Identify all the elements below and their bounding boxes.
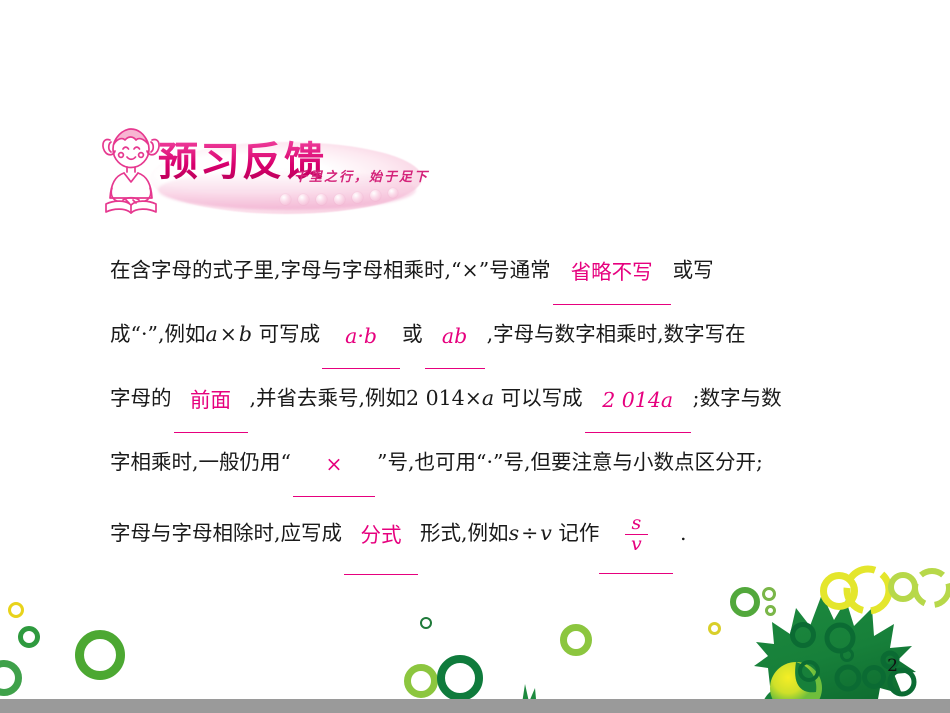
- line2-segment-1: 成“·”,例如: [110, 322, 206, 346]
- bottom-gray-bar: [0, 699, 950, 713]
- banner-subtitle: 千里之行，始于足下: [294, 166, 429, 185]
- lesson-body-text: 在含字母的式子里,字母与字母相乘时,“×”号通常省略不写或写 成“·”,例如a×…: [110, 238, 870, 572]
- ring-dark-in-leaf-3: [840, 648, 854, 662]
- fraction-denominator: v: [625, 534, 648, 555]
- line3-segment-1: 字母的: [110, 386, 172, 410]
- banner-bead-5: [352, 192, 363, 203]
- banner-bead-6: [370, 190, 381, 201]
- line3-segment-3: 可以写成: [501, 386, 583, 410]
- ring-yellowgreen-bottom: [0, 660, 22, 696]
- answer-blank-omit-multiplication-sign[interactable]: 省略不写: [553, 240, 671, 305]
- banner-bead-4: [334, 194, 345, 205]
- ring-lime-leaf-topright: [888, 572, 918, 602]
- line5-operator-divide: ÷: [519, 521, 540, 545]
- banner-bead-1: [280, 194, 291, 205]
- answer-blank-times-sign[interactable]: ×: [293, 432, 375, 497]
- line2-math-b: b: [239, 322, 252, 346]
- ring-green-circle-1: [730, 587, 760, 617]
- line2-segment-3: 或: [402, 322, 423, 346]
- text-line-2: 成“·”,例如a×b 可写成a·b或ab,字母与数字相乘时,数字写在: [110, 302, 870, 366]
- section-header-banner: 预习反馈 千里之行，始于足下: [98, 118, 428, 218]
- line4-segment-2: ”号,也可用“·”号,但要注意与小数点区分开;: [377, 450, 763, 474]
- banner-bead-7: [388, 188, 398, 198]
- line5-math-v: v: [540, 521, 552, 545]
- line2-segment-2: 可写成: [259, 322, 321, 346]
- ring-green-large-left: [75, 630, 125, 680]
- line5-segment-3: 记作: [558, 521, 599, 545]
- ring-yellow-leaf-top: [820, 572, 858, 610]
- ring-lime-tiny-2: [765, 605, 776, 616]
- bottom-decoration: [0, 560, 950, 713]
- ring-lime-tiny-1: [762, 587, 776, 601]
- line4-segment-1: 字相乘时,一般仍用“: [110, 450, 291, 474]
- line5-math-s: s: [509, 521, 520, 545]
- line2-math-a: a: [206, 322, 218, 346]
- ring-dark-in-leaf-2: [798, 660, 820, 682]
- ring-dark-small-mid: [420, 617, 432, 629]
- line2-operator-times: ×: [218, 322, 239, 346]
- line5-segment-1: 字母与字母相除时,应写成: [110, 521, 342, 545]
- fraction-numerator: s: [625, 514, 648, 534]
- ring-yellow-arc-small: [8, 602, 24, 618]
- banner-bead-2: [298, 194, 309, 205]
- line2-segment-4: ,字母与数字相乘时,数字写在: [487, 322, 746, 346]
- answer-blank-a-dot-b[interactable]: a·b: [322, 304, 400, 369]
- line5-segment-2: 形式,例如: [420, 521, 509, 545]
- answer-blank-in-front[interactable]: 前面: [174, 368, 248, 433]
- page-number: 2: [887, 656, 898, 676]
- ring-yellow-tiny: [708, 622, 721, 635]
- line3-segment-4: ;数字与数: [693, 386, 782, 410]
- line1-segment-1: 在含字母的式子里,字母与字母相乘时,“×”号通常: [110, 258, 551, 282]
- ring-dark-big-right: [437, 655, 483, 701]
- text-line-4: 字相乘时,一般仍用“×”号,也可用“·”号,但要注意与小数点区分开;: [110, 430, 870, 494]
- slide-canvas: 预习反馈 千里之行，始于足下 在含字母的式子里,字母与字母相乘时,“×”号通常省…: [0, 0, 950, 713]
- fraction-s-over-v: sv: [625, 514, 648, 555]
- answer-blank-ab[interactable]: ab: [425, 304, 485, 369]
- ring-lime-mid: [560, 624, 592, 656]
- ring-dark-in-leaf-4: [862, 665, 886, 689]
- line3-segment-2: ,并省去乘号,例如2 014×: [250, 386, 482, 410]
- answer-blank-2014a[interactable]: 2 014a: [585, 368, 691, 433]
- text-line-1: 在含字母的式子里,字母与字母相乘时,“×”号通常省略不写或写: [110, 238, 870, 302]
- line3-math-a: a: [482, 386, 494, 410]
- ring-dark-in-leaf-1: [790, 622, 816, 648]
- line5-segment-4: .: [680, 521, 687, 545]
- text-line-3: 字母的前面,并省去乘号,例如2 014×a 可以写成2 014a;数字与数: [110, 366, 870, 430]
- ring-green-yellow-1: [18, 626, 40, 648]
- line1-segment-2: 或写: [673, 258, 714, 282]
- banner-bead-3: [316, 194, 327, 205]
- ring-green-medium-left2: [404, 664, 438, 698]
- girl-reading-book-icon: [98, 120, 164, 216]
